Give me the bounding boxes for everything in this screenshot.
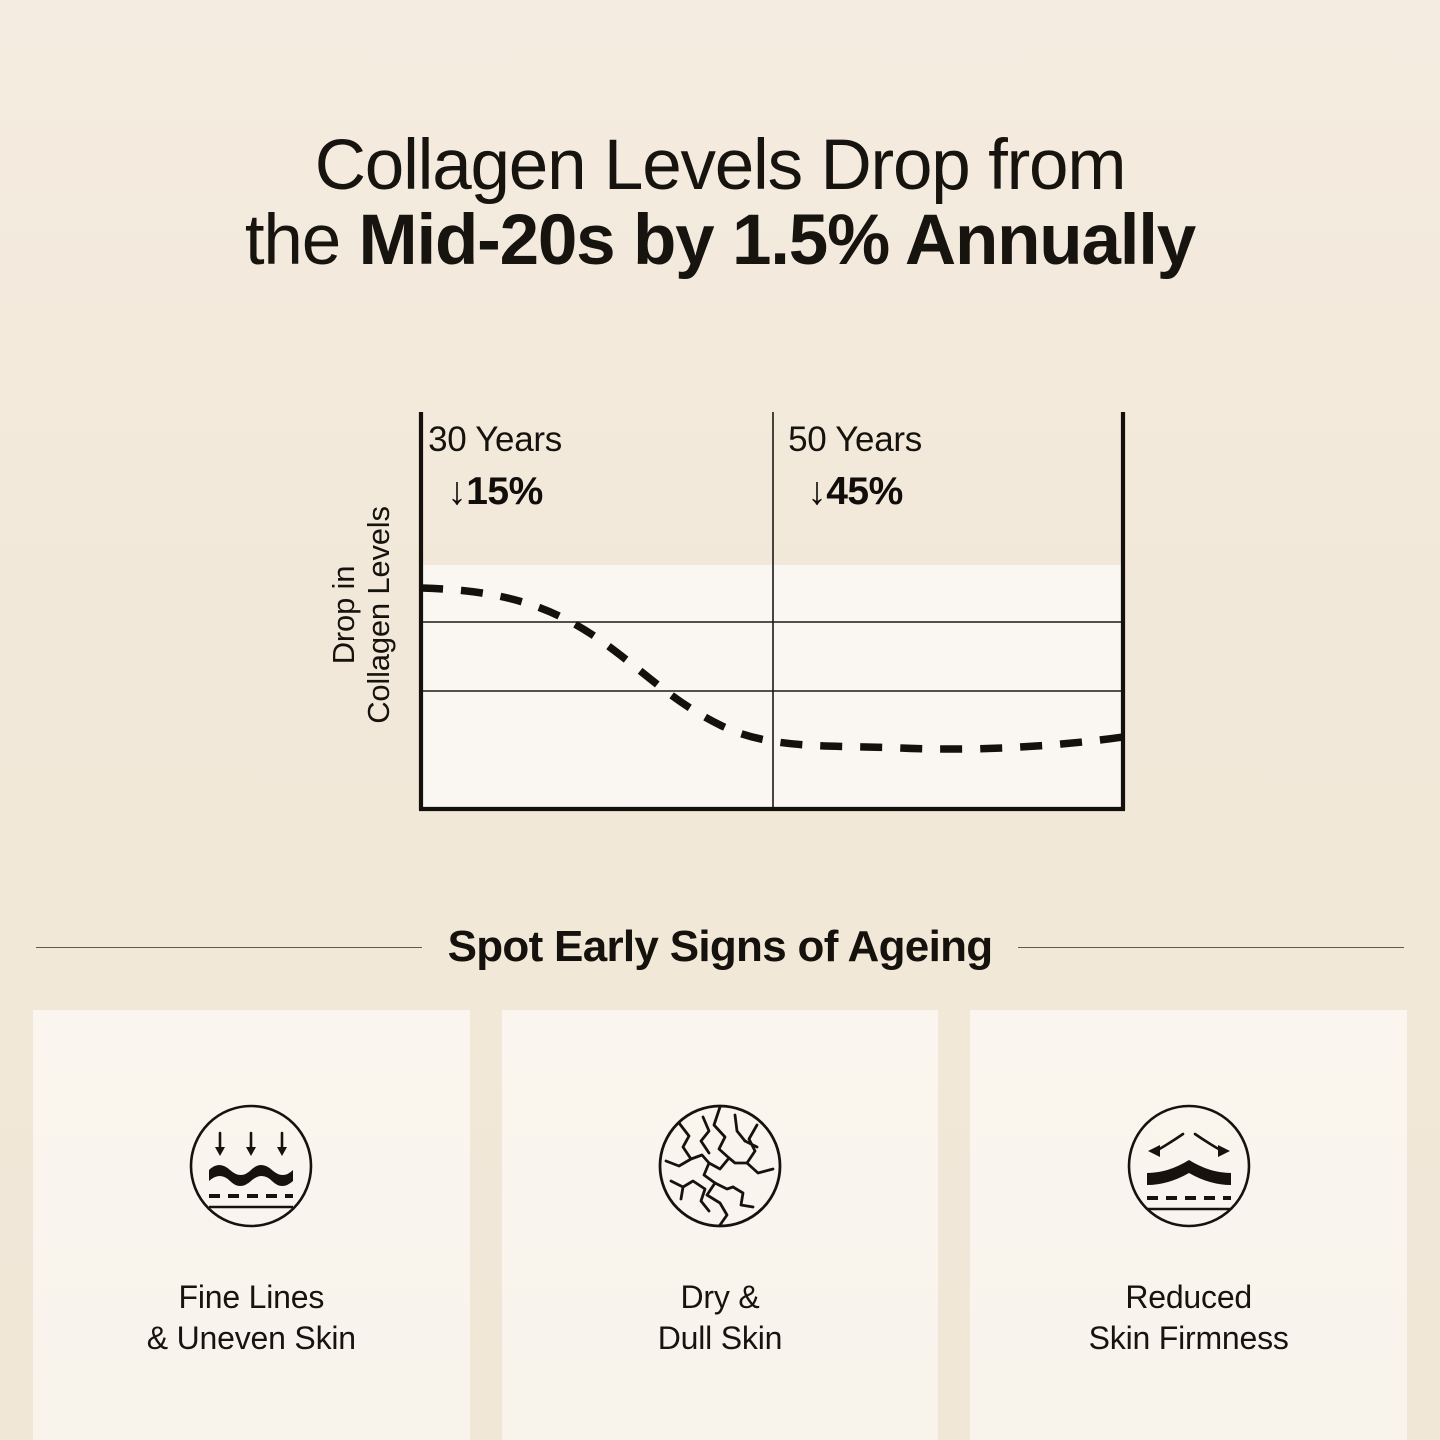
title-line-1: Collagen Levels Drop from — [0, 128, 1440, 203]
section-divider: Spot Early Signs of Ageing — [0, 912, 1440, 982]
reduced-firmness-icon — [1126, 1103, 1252, 1229]
card-reduced-firmness[interactable]: Reduced Skin Firmness — [970, 1010, 1407, 1440]
divider-line-right — [1018, 947, 1404, 948]
divider-line-left — [36, 947, 422, 948]
page-title: Collagen Levels Drop from the Mid-20s by… — [0, 128, 1440, 279]
title-line-2: the Mid-20s by 1.5% Annually — [0, 203, 1440, 278]
title-line-1-text: Collagen Levels Drop from — [315, 126, 1126, 205]
annotation-50-years-drop: ↓45% — [705, 470, 1005, 514]
title-line-2-regular: the — [245, 201, 359, 280]
chart-annotation-30-years: 30 Years ↓15% — [345, 420, 645, 514]
card-dry-dull-skin[interactable]: Dry & Dull Skin — [502, 1010, 939, 1440]
dry-dull-skin-icon — [657, 1103, 783, 1229]
annotation-30-years-drop: ↓15% — [345, 470, 645, 514]
title-line-2-bold: Mid-20s by 1.5% Annually — [359, 201, 1196, 280]
fine-lines-icon — [188, 1103, 314, 1229]
card-dry-dull-skin-label: Dry & Dull Skin — [658, 1277, 782, 1358]
section-heading: Spot Early Signs of Ageing — [448, 922, 993, 972]
card-fine-lines[interactable]: Fine Lines & Uneven Skin — [33, 1010, 470, 1440]
collagen-decline-chart: Drop in Collagen Levels 30 Years ↓15% 50… — [300, 400, 1150, 830]
card-fine-lines-label: Fine Lines & Uneven Skin — [147, 1277, 356, 1358]
card-reduced-firmness-label: Reduced Skin Firmness — [1089, 1277, 1289, 1358]
infographic-page: Collagen Levels Drop from the Mid-20s by… — [0, 0, 1440, 1440]
annotation-30-years-label: 30 Years — [345, 420, 645, 460]
chart-panel-background — [421, 565, 1123, 810]
chart-annotation-50-years: 50 Years ↓45% — [705, 420, 1005, 514]
signs-card-grid: Fine Lines & Uneven Skin — [33, 1010, 1407, 1440]
annotation-50-years-label: 50 Years — [705, 420, 1005, 460]
